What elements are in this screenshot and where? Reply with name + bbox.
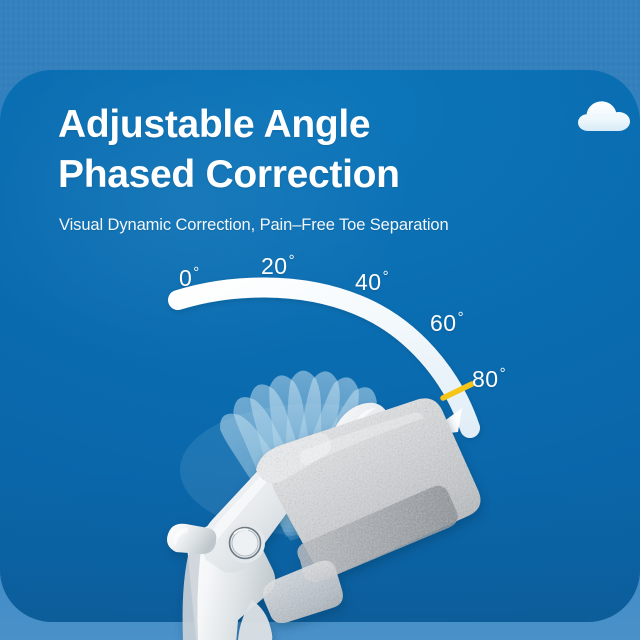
page-subtitle: Visual Dynamic Correction, Pain–Free Toe…	[59, 216, 449, 235]
gauge-label-0: 0°	[179, 264, 200, 292]
gauge-label-60: 60°	[430, 309, 464, 337]
cloud-icon	[578, 98, 630, 132]
card-floor-shadow	[0, 472, 640, 622]
headline-line-2: Phased Correction	[58, 150, 400, 200]
headline-line-1: Adjustable Angle	[58, 100, 400, 150]
gauge-label-20: 20°	[261, 252, 295, 280]
gauge-label-40: 40°	[355, 268, 389, 296]
gauge-label-80: 80°	[472, 365, 506, 393]
page-title: Adjustable Angle Phased Correction	[58, 100, 400, 200]
promo-banner: Adjustable Angle Phased Correction Visua…	[0, 0, 640, 640]
